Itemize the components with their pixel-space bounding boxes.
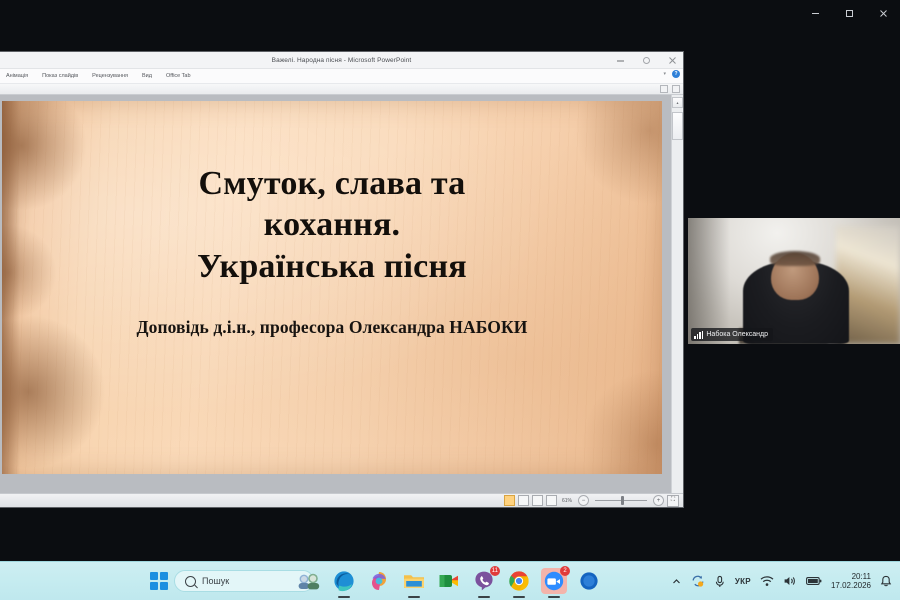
tray-wifi-icon[interactable] bbox=[760, 575, 774, 587]
zoom-out-button[interactable]: − bbox=[578, 495, 589, 506]
tray-date: 17.02.2026 bbox=[831, 581, 871, 590]
slide-vertical-scrollbar[interactable]: ▴ bbox=[671, 95, 683, 493]
tray-time: 20:11 bbox=[852, 572, 871, 581]
desktop-background: Важелі. Народна пісня - Microsoft PowerP… bbox=[0, 0, 900, 600]
fit-to-window-button[interactable]: ⛶ bbox=[667, 495, 679, 507]
zoom-badge: 2 bbox=[560, 566, 570, 576]
chevron-down-icon[interactable]: ▾ bbox=[663, 71, 666, 77]
slide-stage: Смуток, слава та кохання. Українська піс… bbox=[0, 95, 671, 493]
participant-name-badge: Набока Олександр bbox=[691, 328, 773, 341]
taskbar-app-blue-app[interactable] bbox=[576, 568, 602, 594]
menu-item-slideshow[interactable]: Показ слайдів bbox=[42, 73, 78, 79]
app-running-indicator bbox=[513, 596, 525, 598]
app-running-indicator bbox=[338, 596, 350, 598]
powerpoint-menubar: Анімація Показ слайдів Рецензування Вид … bbox=[0, 69, 683, 84]
search-input[interactable]: Пошук bbox=[174, 570, 314, 592]
help-icon[interactable]: ? bbox=[672, 70, 680, 78]
taskbar-app-file-explorer[interactable] bbox=[401, 568, 427, 594]
tray-battery-icon[interactable] bbox=[806, 576, 822, 586]
view-slide-sorter-button[interactable] bbox=[518, 495, 529, 506]
zoom-slider[interactable] bbox=[595, 500, 647, 501]
menu-item-view[interactable]: Вид bbox=[142, 73, 152, 79]
slide-canvas[interactable]: Смуток, слава та кохання. Українська піс… bbox=[2, 101, 662, 474]
slide-title-line-3: Українська пісня bbox=[52, 246, 612, 287]
tray-clock[interactable]: 20:11 17.02.2026 bbox=[831, 572, 871, 590]
menu-item-office-tab[interactable]: Office Tab bbox=[166, 73, 191, 79]
tray-sync-icon[interactable] bbox=[691, 574, 705, 588]
view-reading-button[interactable] bbox=[532, 495, 543, 506]
tray-volume-icon[interactable] bbox=[783, 575, 797, 587]
powerpoint-window-title: Важелі. Народна пісня - Microsoft PowerP… bbox=[0, 57, 683, 64]
taskbar-app-teams-chat[interactable] bbox=[296, 568, 322, 594]
tray-language-indicator[interactable]: УКР bbox=[735, 577, 751, 586]
scroll-up-icon[interactable]: ▴ bbox=[672, 97, 683, 108]
powerpoint-titlebar[interactable]: Важелі. Народна пісня - Microsoft PowerP… bbox=[0, 52, 683, 69]
signal-bars-icon bbox=[694, 331, 703, 339]
tray-overflow-chevron-icon[interactable] bbox=[671, 576, 682, 587]
powerpoint-window-controls bbox=[615, 52, 681, 68]
app-running-indicator bbox=[408, 596, 420, 598]
app-running-indicator bbox=[478, 596, 490, 598]
outer-window-controls bbox=[790, 0, 900, 26]
taskbar-app-google-meet[interactable] bbox=[436, 568, 462, 594]
zoom-in-button[interactable]: + bbox=[653, 495, 664, 506]
ppt-close-button[interactable] bbox=[667, 55, 677, 65]
video-participant-tile[interactable]: Набока Олександр bbox=[688, 218, 900, 344]
slide-title: Смуток, слава та кохання. Українська піс… bbox=[52, 163, 612, 287]
taskbar-app-microsoft-edge[interactable] bbox=[331, 568, 357, 594]
powerpoint-ribbon-collapsed bbox=[0, 84, 683, 95]
slide-title-line-2: кохання. bbox=[52, 204, 612, 245]
viber-badge: 11 bbox=[490, 566, 500, 576]
menu-item-animation[interactable]: Анімація bbox=[6, 73, 28, 79]
ribbon-option-icon-1[interactable] bbox=[660, 85, 668, 93]
ribbon-right-buttons bbox=[660, 85, 680, 93]
taskbar-app-icons: 11 2 bbox=[296, 568, 602, 594]
search-icon bbox=[185, 576, 196, 587]
scrollbar-thumb[interactable] bbox=[672, 112, 683, 140]
taskbar-app-zoom[interactable]: 2 bbox=[541, 568, 567, 594]
video-wall-shadow bbox=[688, 218, 730, 344]
slide-subtitle: Доповідь д.і.н., професора Олександра НА… bbox=[136, 317, 527, 338]
zoom-level-label: 61% bbox=[562, 498, 572, 504]
taskbar-app-google-chrome[interactable] bbox=[506, 568, 532, 594]
outer-close-button[interactable] bbox=[866, 0, 900, 26]
view-slideshow-button[interactable] bbox=[546, 495, 557, 506]
tray-microphone-icon[interactable] bbox=[714, 575, 726, 588]
search-placeholder: Пошук bbox=[202, 576, 229, 586]
menu-item-review[interactable]: Рецензування bbox=[92, 73, 128, 79]
taskbar-start-area: Пошук bbox=[150, 570, 314, 592]
outer-restore-button[interactable] bbox=[832, 0, 866, 26]
ppt-restore-button[interactable] bbox=[641, 55, 651, 65]
taskbar-app-copilot[interactable] bbox=[366, 568, 392, 594]
slide-title-line-1: Смуток, слава та bbox=[52, 163, 612, 204]
ppt-minimize-button[interactable] bbox=[615, 55, 625, 65]
view-normal-button[interactable] bbox=[504, 495, 515, 506]
video-person-hair bbox=[770, 251, 821, 266]
outer-minimize-button[interactable] bbox=[798, 0, 832, 26]
video-frame bbox=[688, 218, 900, 344]
app-running-indicator bbox=[548, 596, 560, 598]
start-button[interactable] bbox=[150, 572, 168, 590]
menubar-right-controls: ▾ ? bbox=[663, 70, 680, 78]
zoom-slider-knob[interactable] bbox=[621, 496, 624, 505]
system-tray: УКР bbox=[671, 572, 892, 590]
participant-name: Набока Олександр bbox=[706, 331, 768, 338]
powerpoint-window: Важелі. Народна пісня - Microsoft PowerP… bbox=[0, 52, 683, 507]
windows-taskbar: Пошук bbox=[0, 561, 900, 600]
taskbar-app-viber[interactable]: 11 bbox=[471, 568, 497, 594]
ribbon-option-icon-2[interactable] bbox=[672, 85, 680, 93]
powerpoint-statusbar: 61% − + ⛶ bbox=[0, 493, 683, 507]
tray-notifications-bell-icon[interactable] bbox=[880, 575, 892, 588]
powerpoint-workspace: Смуток, слава та кохання. Українська піс… bbox=[0, 95, 683, 493]
